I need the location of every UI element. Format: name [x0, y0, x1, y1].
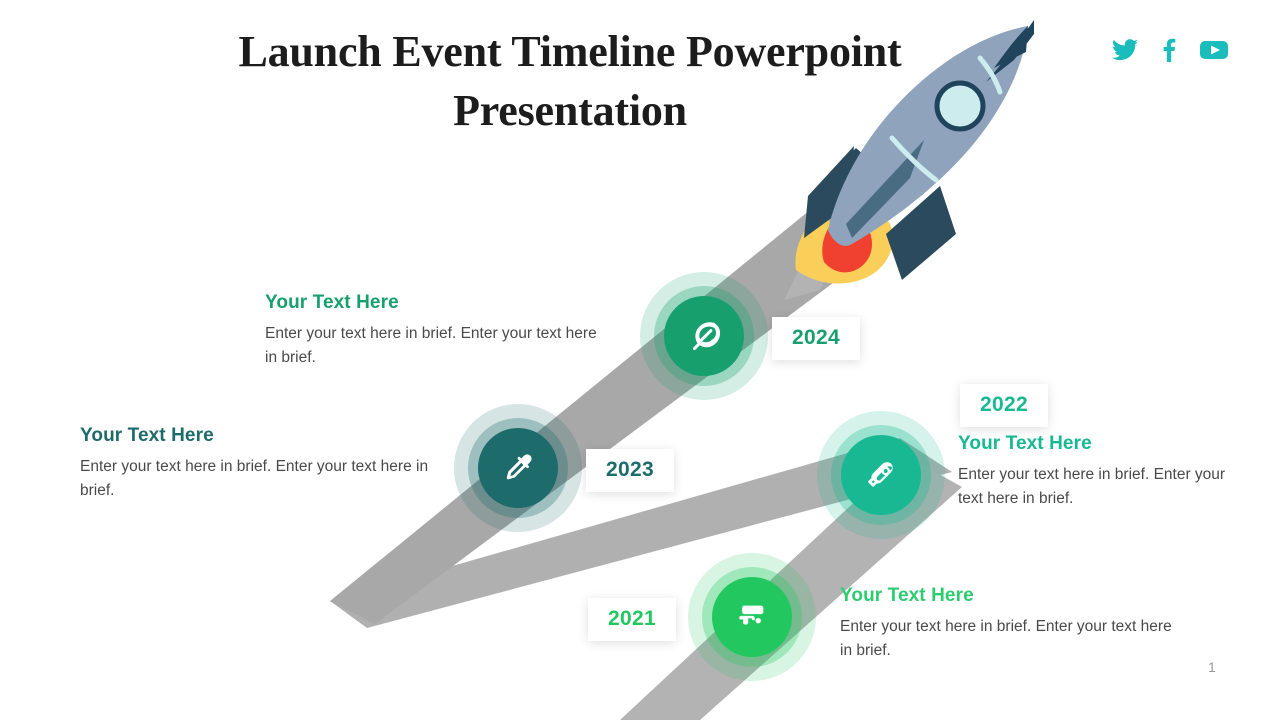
rocket-flame-outer	[795, 206, 893, 284]
eyedropper-icon	[501, 451, 535, 485]
year-chip-2023: 2023	[586, 449, 674, 492]
milestone-heading: Your Text Here	[265, 292, 610, 314]
milestone-node-2022[interactable]	[817, 411, 945, 539]
slide-canvas: Launch Event Timeline Powerpoint Present…	[0, 0, 1280, 720]
twitter-icon[interactable]	[1112, 39, 1138, 61]
facebook-icon[interactable]	[1162, 38, 1176, 62]
milestone-node-2024[interactable]	[640, 272, 768, 400]
paint-roller-icon	[735, 600, 769, 634]
milestone-text-2023: Your Text Here Enter your text here in b…	[80, 425, 430, 503]
milestone-text-2022: Your Text Here Enter your text here in b…	[958, 433, 1233, 511]
rocket-flame-inner	[822, 210, 872, 272]
milestone-body: Enter your text here in brief. Enter you…	[265, 322, 610, 370]
rocket-nose	[986, 20, 1034, 82]
page-title: Launch Event Timeline Powerpoint Present…	[150, 22, 990, 141]
milestone-body: Enter your text here in brief. Enter you…	[80, 455, 430, 503]
rocket-fin-right	[886, 186, 956, 280]
node-disc	[841, 435, 921, 515]
node-disc	[712, 577, 792, 657]
page-number: 1	[1208, 659, 1216, 675]
rocket-ring-lower	[892, 138, 936, 180]
rocket-fin-left	[810, 148, 890, 224]
rocket-nose-tip	[994, 26, 1028, 68]
youtube-icon[interactable]	[1200, 40, 1228, 60]
milestone-text-2021: Your Text Here Enter your text here in b…	[840, 585, 1185, 663]
year-chip-2022: 2022	[960, 384, 1048, 427]
milestone-node-2023[interactable]	[454, 404, 582, 532]
highlighter-icon	[864, 458, 898, 492]
milestone-heading: Your Text Here	[80, 425, 430, 447]
rocket-body-stripe	[846, 140, 924, 238]
feather-icon	[686, 318, 722, 354]
social-links	[1112, 38, 1228, 62]
milestone-body: Enter your text here in brief. Enter you…	[958, 463, 1233, 511]
milestone-body: Enter your text here in brief. Enter you…	[840, 615, 1185, 663]
node-disc	[478, 428, 558, 508]
year-chip-2024: 2024	[772, 317, 860, 360]
node-disc	[664, 296, 744, 376]
milestone-node-2021[interactable]	[688, 553, 816, 681]
rocket-smoke	[784, 232, 848, 300]
milestone-heading: Your Text Here	[840, 585, 1185, 607]
rocket-fin-left-outer	[804, 146, 854, 238]
milestone-heading: Your Text Here	[958, 433, 1233, 455]
year-chip-2021: 2021	[588, 598, 676, 641]
milestone-text-2024: Your Text Here Enter your text here in b…	[265, 292, 610, 370]
